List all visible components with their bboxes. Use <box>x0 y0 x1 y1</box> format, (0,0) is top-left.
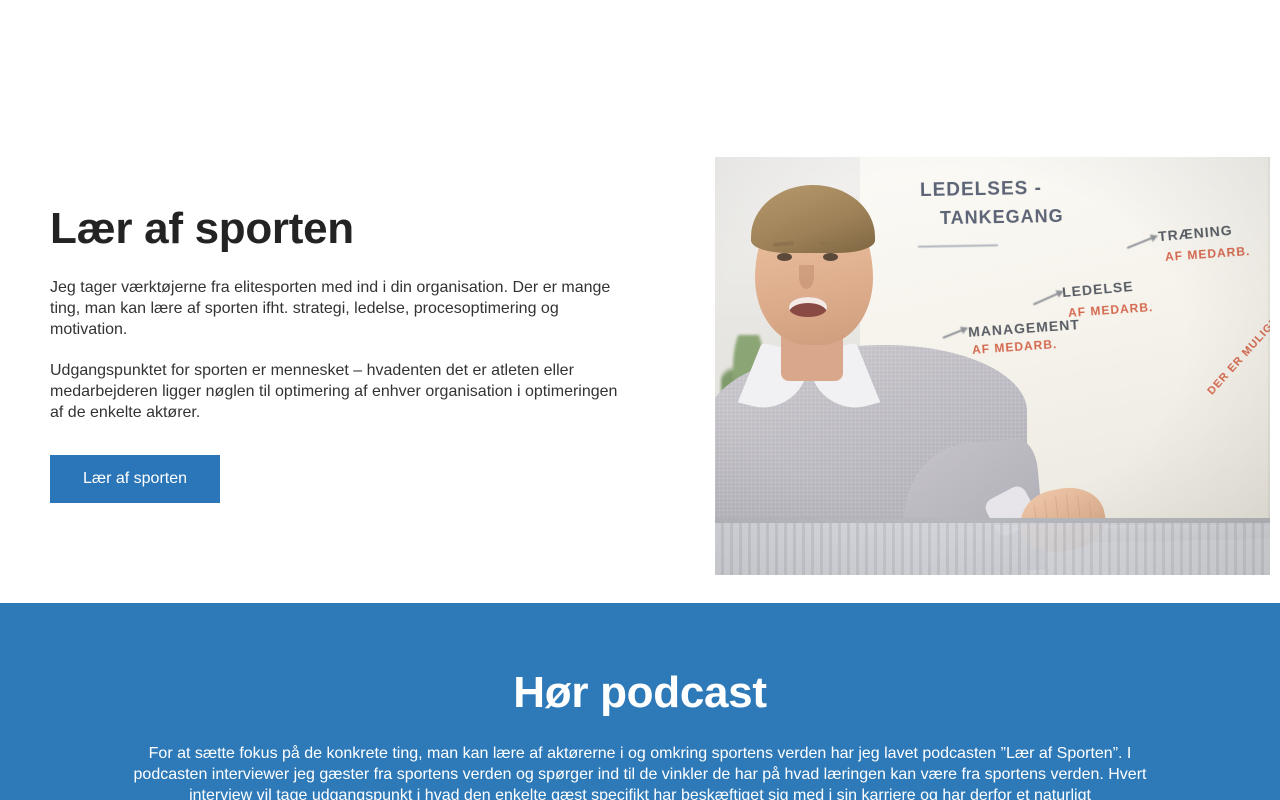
podcast-title: Hør podcast <box>125 667 1155 719</box>
hero-paragraph-1: Jeg tager værktøjerne fra elitesporten m… <box>50 277 620 340</box>
hero-section: Lær af sporten Jeg tager værktøjerne fra… <box>0 0 1280 603</box>
hero-paragraph-2: Udgangspunktet for sporten er mennesket … <box>50 360 620 423</box>
presenter-hair <box>751 185 875 253</box>
whiteboard-side-note: DER ER MULIGHED I ÆNDRING <box>1205 246 1270 398</box>
presenter-photo: LEDELSES - TANKEGANG MANAGEMENT AF MEDAR… <box>715 157 1270 575</box>
podcast-section: Hør podcast For at sætte fokus på de kon… <box>0 603 1280 800</box>
presenter-figure <box>715 175 1037 575</box>
presenter-eye-left <box>777 253 792 261</box>
page-title: Lær af sporten <box>50 203 620 255</box>
radiator <box>715 523 1270 575</box>
whiteboard-step-3-label: TRÆNING <box>1157 222 1233 244</box>
hero-image: LEDELSES - TANKEGANG MANAGEMENT AF MEDAR… <box>715 157 1270 575</box>
presenter-eye-right <box>823 253 838 261</box>
whiteboard-arrow-3-icon <box>1127 235 1157 249</box>
whiteboard-step-3-sub: AF MEDARB. <box>1165 244 1251 264</box>
whiteboard-step-2-label: LEDELSE <box>1061 278 1134 300</box>
whiteboard-arrow-2-icon <box>1033 291 1063 306</box>
laer-af-sporten-button[interactable]: Lær af sporten <box>50 455 220 503</box>
page-root: Lær af sporten Jeg tager værktøjerne fra… <box>0 0 1280 800</box>
podcast-content: Hør podcast For at sætte fokus på de kon… <box>125 603 1155 800</box>
podcast-paragraph: For at sætte fokus på de konkrete ting, … <box>125 743 1155 800</box>
presenter-mouth <box>789 297 827 317</box>
whiteboard-step-2-sub: AF MEDARB. <box>1068 300 1154 320</box>
hero-text-block: Lær af sporten Jeg tager værktøjerne fra… <box>50 203 620 503</box>
presenter-nose <box>799 265 814 289</box>
